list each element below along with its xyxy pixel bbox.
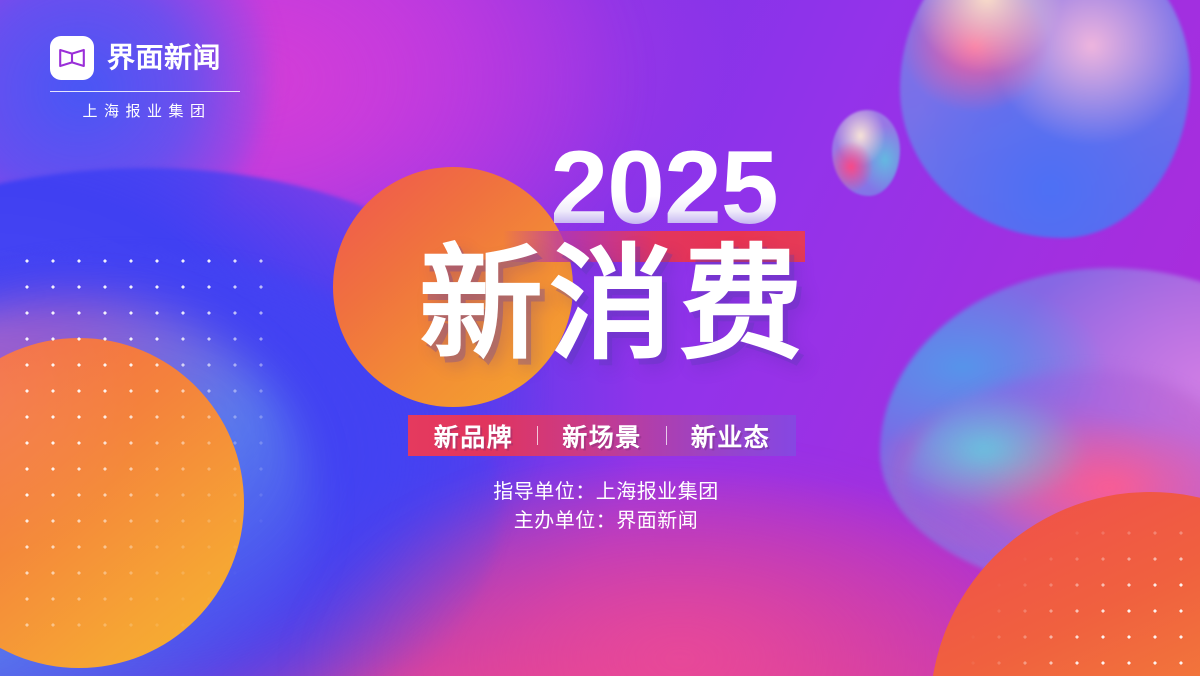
tagline-item-1: 新品牌	[434, 418, 514, 454]
tagline-item-3: 新业态	[691, 418, 771, 454]
hero-year: 2025	[0, 136, 1200, 240]
tagline-banner: 新品牌 新场景 新业态	[408, 415, 796, 456]
tagline-separator-2	[666, 426, 667, 445]
credit-line-organizer: 主办单位：界面新闻	[12, 507, 1200, 536]
tagline-separator-1	[537, 426, 538, 445]
credit-line-guidance: 指导单位：上海报业集团	[12, 478, 1200, 507]
hero-composition: 2025 新消费 新品牌 新场景 新业态 指导单位：上海报业集团 主办单位：界面…	[0, 0, 1200, 676]
credits-block: 指导单位：上海报业集团 主办单位：界面新闻	[0, 478, 1200, 536]
hero-title: 新消费	[0, 236, 1200, 375]
tagline-item-2: 新场景	[562, 418, 642, 454]
poster-canvas: 界面新闻 上海报业集团 2025 新消费 新品牌 新场景 新业态 指导单位：上海…	[0, 0, 1200, 676]
